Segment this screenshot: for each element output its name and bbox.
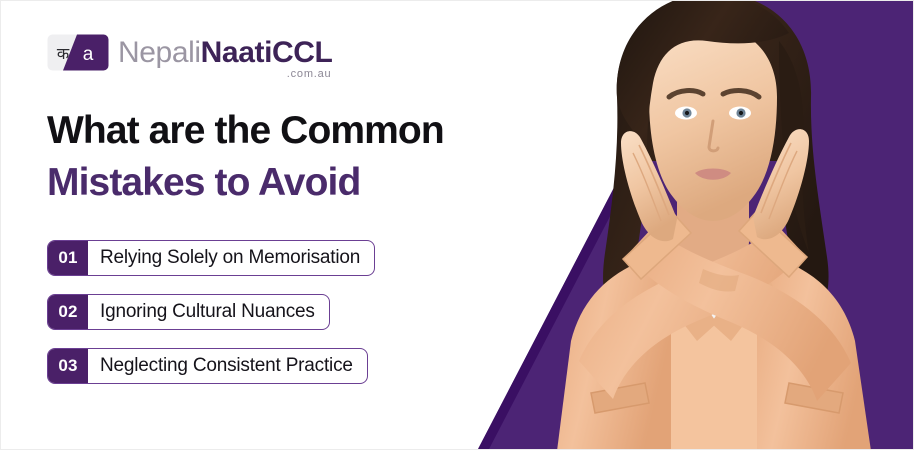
logo-brand-light: Nepali [118,36,201,69]
list-item-number: 01 [48,241,88,275]
list-item-label: Relying Solely on Memorisation [88,241,374,275]
list-item-label: Ignoring Cultural Nuances [88,295,329,329]
logo-brand-bold: NaatiCCL [201,36,333,69]
list-item-number: 03 [48,349,88,383]
list-item: 02 Ignoring Cultural Nuances [47,294,330,330]
logo-tld: .com.au [287,69,332,80]
logo-wordmark: NepaliNaatiCCL .com.au [118,38,332,68]
woman-x-gesture-photo [521,1,914,450]
headline: What are the Common Mistakes to Avoid [47,105,444,209]
list-item-label: Neglecting Consistent Practice [88,349,367,383]
list-item: 03 Neglecting Consistent Practice [47,348,368,384]
list-item-number: 02 [48,295,88,329]
list-item: 01 Relying Solely on Memorisation [47,240,375,276]
svg-text:क: क [57,44,70,63]
logo-mark: क a [47,34,109,71]
svg-text:a: a [83,44,94,65]
headline-line-1: What are the Common [47,105,444,157]
promo-banner: क a NepaliNaatiCCL .com.au What are the … [0,0,914,450]
headline-line-2: Mistakes to Avoid [47,157,444,209]
brand-logo[interactable]: क a NepaliNaatiCCL .com.au [47,34,332,71]
mistakes-list: 01 Relying Solely on Memorisation 02 Ign… [47,240,375,384]
